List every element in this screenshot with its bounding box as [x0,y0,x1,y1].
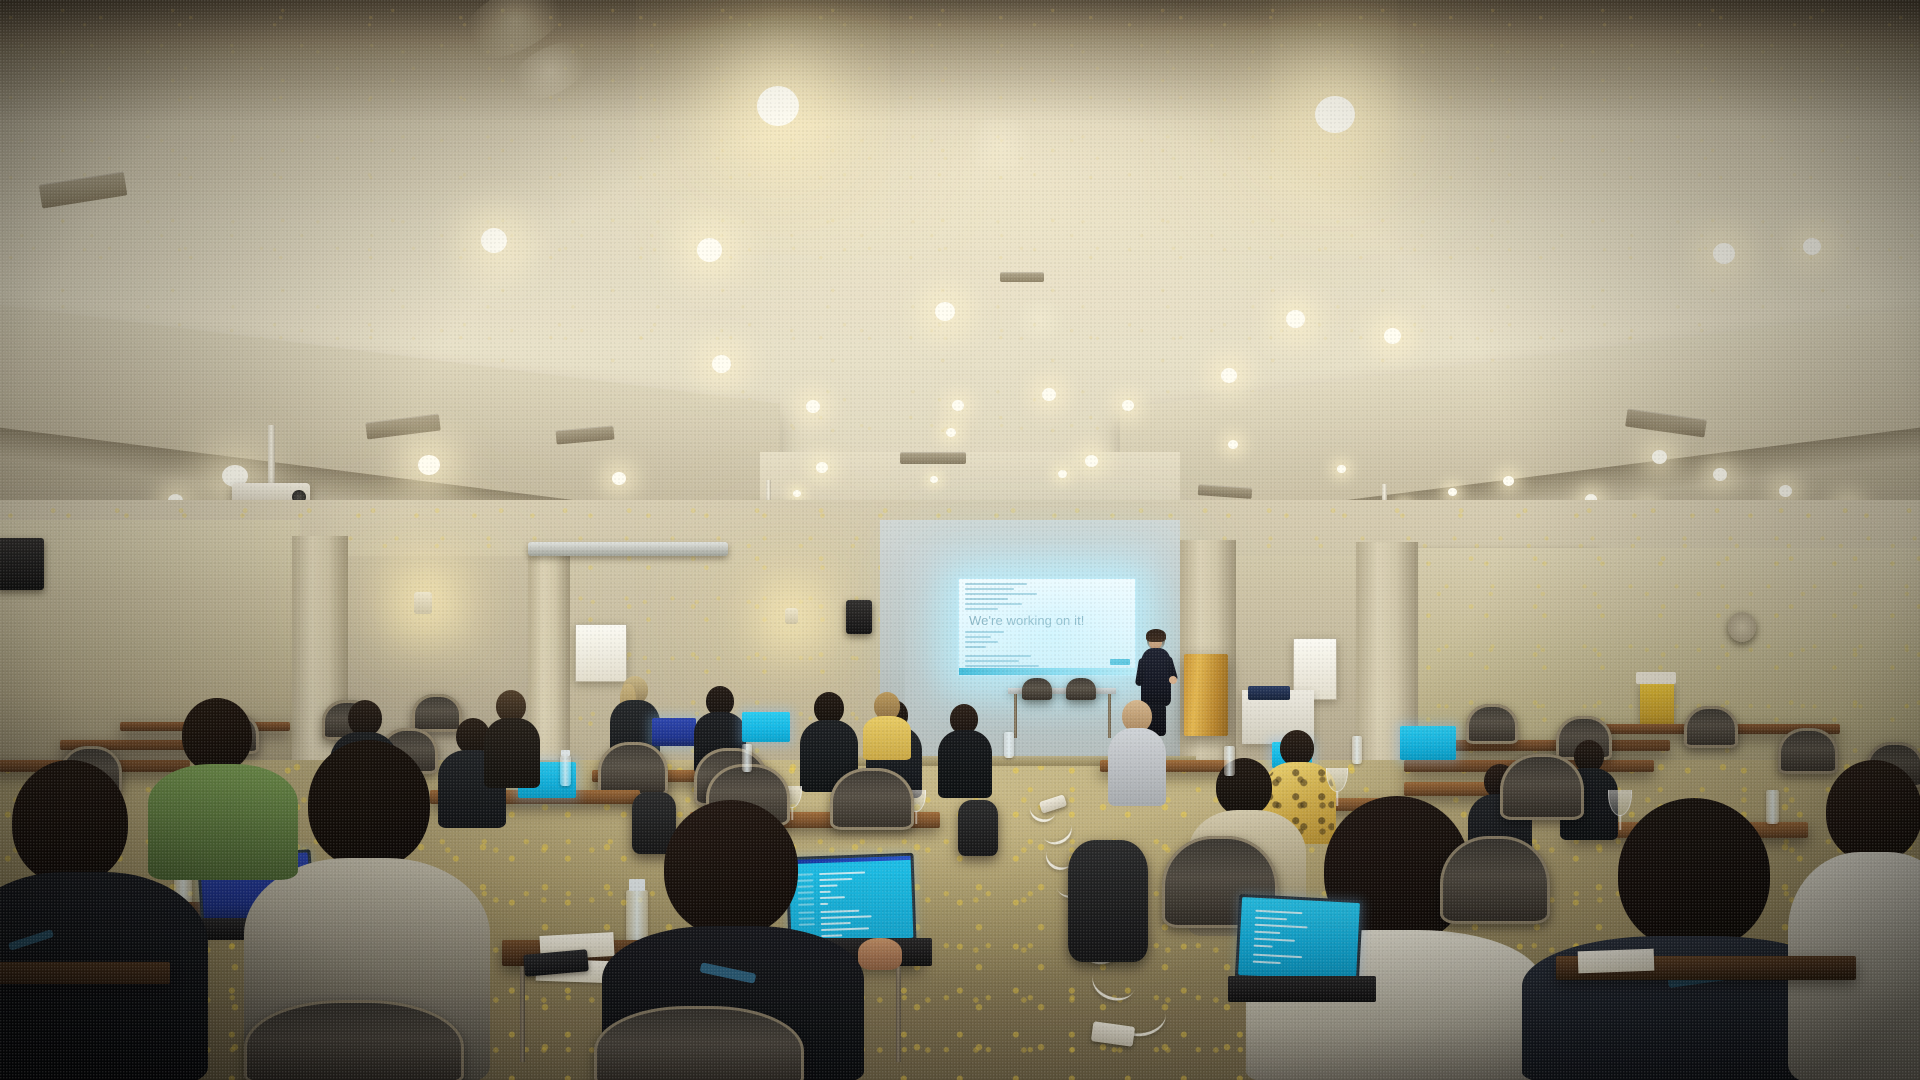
backpack [958,800,998,856]
laptop [742,712,790,742]
attendee-torso [148,764,298,880]
attendee-yellow-top [862,692,912,762]
wall-sconce-light [414,592,432,614]
ceiling-downlight [712,355,731,373]
napkin [1578,949,1655,974]
glass-bowl [1326,768,1348,792]
ceiling-downlight [1713,243,1735,264]
chair [594,1006,804,1080]
flipchart-left [575,624,627,682]
chair [244,1000,464,1080]
ceiling-downlight [1221,368,1237,383]
water-bottle [560,756,571,786]
chair-frame [594,1006,804,1080]
attendee-torso [863,716,911,760]
wall-panel-right [1418,548,1920,788]
chair-frame [1684,706,1738,748]
attendee-head [1826,760,1920,862]
attendee-torso [938,730,992,798]
chair-frame [1500,754,1584,820]
ceiling-vent [900,452,966,464]
water-bottle [742,744,752,772]
av-equipment-case [1248,686,1290,700]
chair [1684,706,1738,748]
projector-screen-case [528,542,728,556]
attendee-head [664,800,798,936]
laptop [1238,897,1360,981]
bin-sign [1636,672,1676,684]
presenter-hair [1146,629,1166,642]
chair [1466,704,1518,744]
slide-body-lines [965,631,1129,671]
wall-speaker [0,538,44,590]
ceiling-downlight [1315,96,1355,133]
attendee-torso [1108,728,1166,806]
projection-screen: We're working on it! [958,578,1136,676]
presenter-hand [1169,676,1177,684]
bottle-cap [561,750,570,756]
ceiling-downlight [946,428,956,437]
chair-frame [598,742,668,796]
laptop [1400,726,1456,760]
attendee [938,704,992,804]
chair-back [1022,678,1052,700]
hand [858,938,902,970]
yellow-bin [1640,682,1674,726]
ceiling-downlight [1803,238,1821,255]
slide-headline: We're working on it! [969,613,1085,628]
chair-back [1066,678,1096,700]
conference-room-photo: We're working on it! [0,0,1920,1080]
ceiling-downlight [1779,485,1792,497]
ceiling-downlight [612,472,626,485]
ceiling-downlight [1122,400,1134,411]
ceiling-downlight [1042,388,1056,401]
water-bottle [1224,746,1235,776]
lectern [1184,654,1228,736]
slide-logo [1110,659,1130,665]
ceiling-downlight [1228,440,1238,449]
ceiling-downlight [1713,468,1727,481]
ceiling-downlight [935,302,955,321]
head-table-leg [1014,694,1017,738]
chair-frame [1466,704,1518,744]
ceiling-downlight [952,400,964,411]
table-leg [896,966,901,1062]
table-row [0,962,170,984]
laptop-keyboard [1228,976,1376,1002]
laptop-screen [742,712,790,742]
ceiling-downlight [1448,488,1457,496]
attendee [1108,700,1166,812]
attendee-head [182,698,252,772]
water-bottle [1352,736,1362,764]
chair [1500,754,1584,820]
ceiling-downlight [418,455,440,475]
ceiling-downlight [481,228,507,253]
chair-frame [1440,836,1550,924]
ceiling-downlight [816,462,828,473]
attendee-head [308,740,430,868]
attendee-head [1618,798,1770,950]
water-bottle [1004,732,1014,758]
head-table-chair [1066,678,1096,700]
head-table-chair [1022,678,1052,700]
ceiling-downlight [793,490,801,497]
chair [1440,836,1550,924]
laptop-screen [1400,726,1456,760]
attendee-torso [484,718,540,788]
ceiling-downlight [1652,450,1667,464]
ceiling-downlight [697,238,722,262]
ceiling-downlight [1286,310,1305,328]
backpack [1068,840,1148,962]
attendee-foreground [148,698,298,878]
attendee-head [348,700,382,736]
chair-frame [244,1000,464,1080]
ceiling-downlight [1085,455,1098,467]
ceiling-downlight [930,476,938,483]
table-leg [520,966,525,1062]
attendee-head [12,760,128,884]
projector-mount-pole [268,425,275,487]
ceiling-downlight [1058,470,1067,478]
ceiling-vent [1000,272,1044,282]
ceiling-downlight [1384,328,1401,344]
slide-accent-bar [959,668,1135,675]
wall-sconce-light [785,608,798,624]
chair [598,742,668,796]
attendee [482,690,542,796]
attendee-foreground [1792,760,1920,1080]
wall-speaker [846,600,872,634]
ceiling-downlight [757,86,799,126]
wall-speaker [1728,612,1756,642]
ceiling-downlight [806,400,820,413]
ceiling-downlight [1337,465,1346,473]
glass-stem [915,811,917,824]
ceiling-downlight [1503,476,1514,486]
